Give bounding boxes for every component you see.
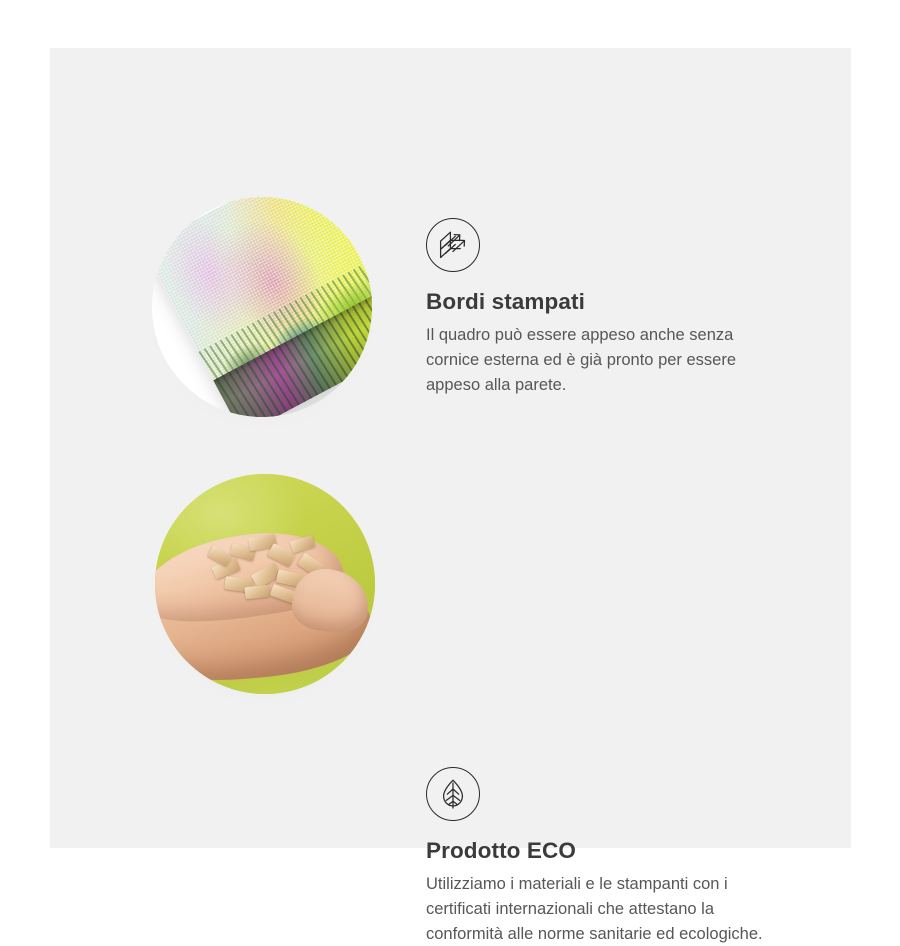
feature-title: Bordi stampati	[426, 288, 798, 315]
canvas-print-corner	[152, 197, 372, 417]
wood-chip	[244, 585, 269, 599]
canvas-artwork	[152, 197, 372, 417]
product-feature-panel: Bordi stampati Il quadro può essere appe…	[0, 0, 900, 900]
wood-chip	[290, 535, 316, 554]
content-panel: Bordi stampati Il quadro può essere appe…	[50, 48, 851, 848]
printed-edges-icon	[426, 218, 480, 272]
eco-wood-chips-photo	[155, 474, 375, 694]
feature-description: Il quadro può essere appeso anche senza …	[426, 323, 788, 397]
leaf-icon	[426, 767, 480, 821]
feature-text-printed-edges: Bordi stampati Il quadro può essere appe…	[426, 218, 798, 397]
canvas-corner-photo	[152, 197, 372, 417]
feature-text-eco-product: Prodotto ECO Utilizziamo i materiali e l…	[426, 767, 798, 946]
feature-description: Utilizziamo i materiali e le stampanti c…	[426, 872, 788, 946]
feature-title: Prodotto ECO	[426, 837, 798, 864]
